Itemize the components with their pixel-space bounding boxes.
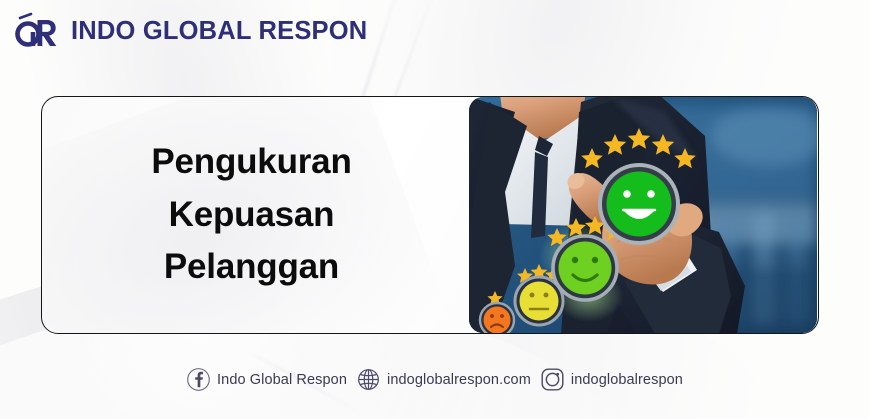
footer-label-website: indoglobalrespon.com xyxy=(387,372,531,388)
satisfaction-photo xyxy=(469,97,817,333)
igr-monogram-logo-icon xyxy=(14,10,60,52)
footer-label-instagram: indoglobalrespon xyxy=(571,372,683,388)
footer-item-website[interactable]: indoglobalrespon.com xyxy=(356,367,531,392)
page-title-line-3: Pelanggan xyxy=(151,241,351,294)
brand-name: INDO GLOBAL RESPON xyxy=(71,17,367,46)
page-title: Pengukuran Kepuasan Pelanggan xyxy=(151,136,351,294)
page-title-line-1: Pengukuran xyxy=(151,136,351,189)
hero-card: Pengukuran Kepuasan Pelanggan xyxy=(41,96,819,334)
footer-item-instagram[interactable]: indoglobalrespon xyxy=(540,367,683,392)
social-footer: Indo Global Respon indoglobalrespon.com xyxy=(0,367,869,392)
instagram-icon[interactable] xyxy=(540,367,565,392)
page-title-line-2: Kepuasan xyxy=(151,189,351,242)
globe-icon[interactable] xyxy=(356,367,381,392)
banner-root: INDO GLOBAL RESPON Pengukuran Kepuasan P… xyxy=(0,0,869,419)
footer-item-facebook[interactable]: Indo Global Respon xyxy=(186,367,347,392)
brand-header: INDO GLOBAL RESPON xyxy=(14,10,367,52)
hero-text-pane: Pengukuran Kepuasan Pelanggan xyxy=(42,97,469,333)
facebook-icon[interactable] xyxy=(186,367,211,392)
footer-label-facebook: Indo Global Respon xyxy=(217,372,347,388)
